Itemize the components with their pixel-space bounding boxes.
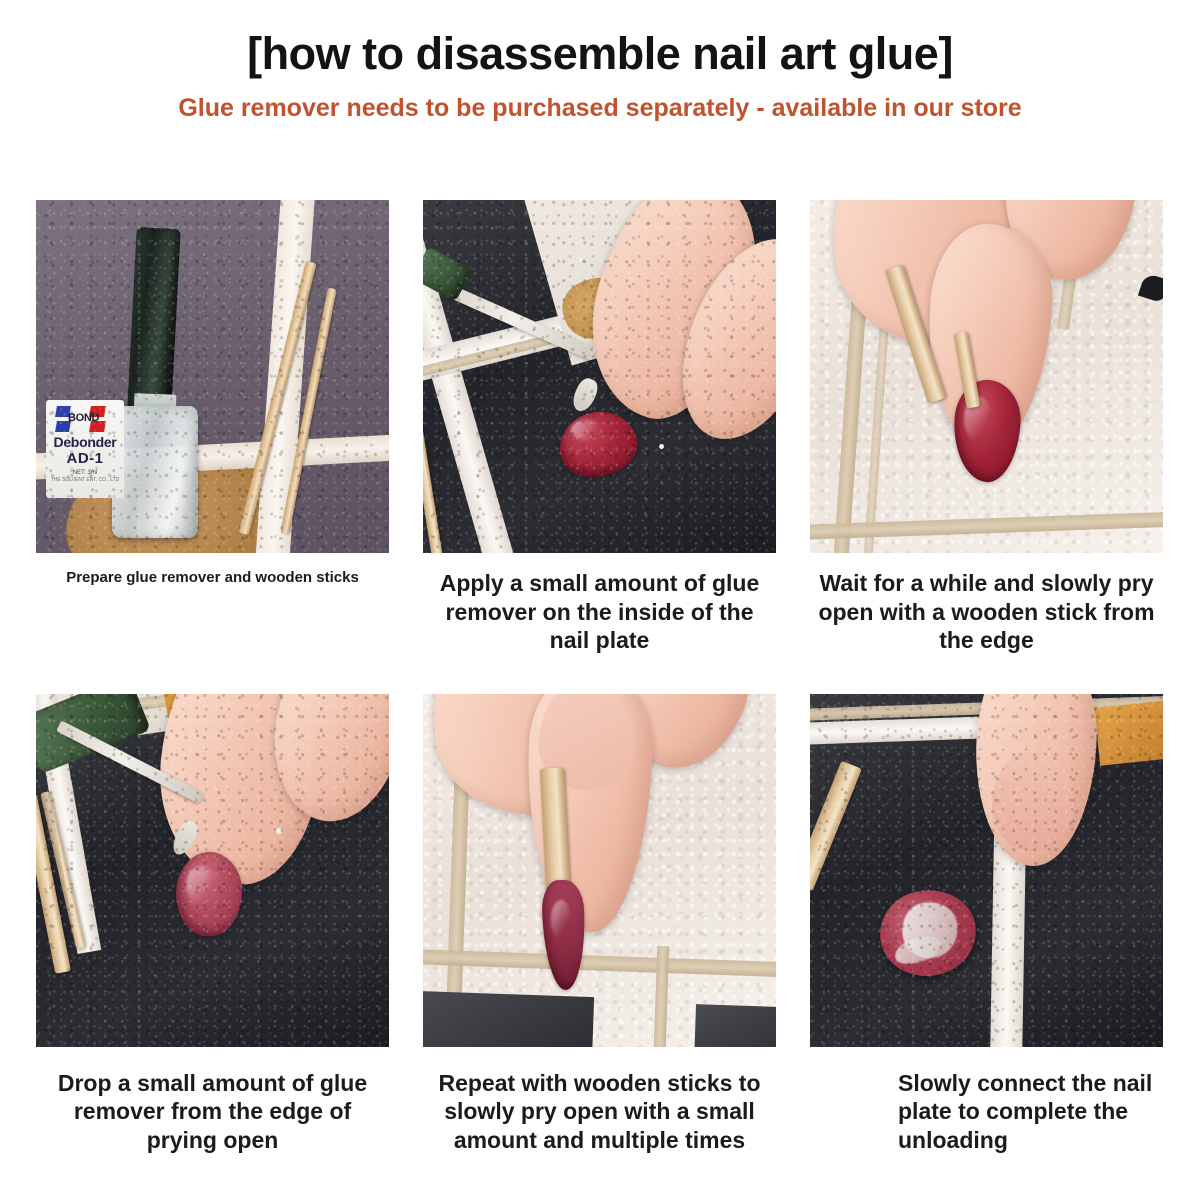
- step-photo-2: [423, 200, 776, 553]
- step-caption-3: Wait for a while and slowly pry open wit…: [810, 569, 1163, 655]
- step-card-1: BOND Debonder AD-1 NET: 3ml THE SOLVENT …: [36, 200, 389, 655]
- step-photo-3: [810, 200, 1163, 553]
- nail-highlight: [186, 866, 216, 904]
- product-company: THE SOLVENT ENT. CO., LTD: [51, 477, 120, 483]
- step-photo-4: [36, 694, 389, 1047]
- bottle-cap: [127, 227, 180, 411]
- step-card-2: Apply a small amount of glue remover on …: [423, 200, 776, 655]
- dark-corner-shape: [423, 990, 594, 1046]
- step-caption-4: Drop a small amount of glue remover from…: [36, 1069, 389, 1155]
- bottle-label: BOND Debonder AD-1 NET: 3ml THE SOLVENT …: [46, 400, 124, 498]
- tan-patch: [1094, 700, 1163, 765]
- nail-highlight: [551, 900, 571, 940]
- steps-grid: BOND Debonder AD-1 NET: 3ml THE SOLVENT …: [36, 200, 1164, 1154]
- product-net-weight: NET: 3ml: [73, 470, 97, 476]
- step-caption-2: Apply a small amount of glue remover on …: [423, 569, 776, 655]
- label-logo-marks: BOND: [48, 405, 122, 433]
- product-name: Debonder: [54, 434, 117, 450]
- surface-speck: [579, 258, 583, 262]
- step-card-3: Wait for a while and slowly pry open wit…: [810, 200, 1163, 655]
- step-photo-1: BOND Debonder AD-1 NET: 3ml THE SOLVENT …: [36, 200, 389, 553]
- wooden-stick-icon: [810, 760, 862, 891]
- nail-highlight: [571, 420, 605, 440]
- surface-speck: [276, 828, 282, 834]
- step-caption-1: Prepare glue remover and wooden sticks: [36, 569, 389, 588]
- product-model: AD-1: [66, 450, 103, 467]
- step-photo-6: [810, 694, 1163, 1047]
- product-brand: BOND: [68, 412, 99, 424]
- step-card-5: Repeat with wooden sticks to slowly pry …: [423, 694, 776, 1155]
- step-card-6: Slowly connect the nail plate to complet…: [810, 694, 1163, 1155]
- surface-speck: [659, 444, 664, 449]
- page-subtitle: Glue remover needs to be purchased separ…: [0, 95, 1200, 123]
- step-caption-5: Repeat with wooden sticks to slowly pry …: [423, 1069, 776, 1155]
- step-photo-5: [423, 694, 776, 1047]
- dark-corner-shape: [694, 1004, 776, 1047]
- steps-row-top: BOND Debonder AD-1 NET: 3ml THE SOLVENT …: [36, 200, 1164, 655]
- bottle-body: [112, 406, 198, 538]
- step-caption-6: Slowly connect the nail plate to complet…: [810, 1069, 1163, 1155]
- steps-row-bottom: Drop a small amount of glue remover from…: [36, 694, 1164, 1155]
- page-title: [how to disassemble nail art glue]: [0, 30, 1200, 77]
- header: [how to disassemble nail art glue] Glue …: [0, 30, 1200, 123]
- painted-nail: [553, 405, 643, 484]
- brush-tip: [569, 375, 601, 414]
- infographic-page: [how to disassemble nail art glue] Glue …: [0, 0, 1200, 1200]
- step-card-4: Drop a small amount of glue remover from…: [36, 694, 389, 1155]
